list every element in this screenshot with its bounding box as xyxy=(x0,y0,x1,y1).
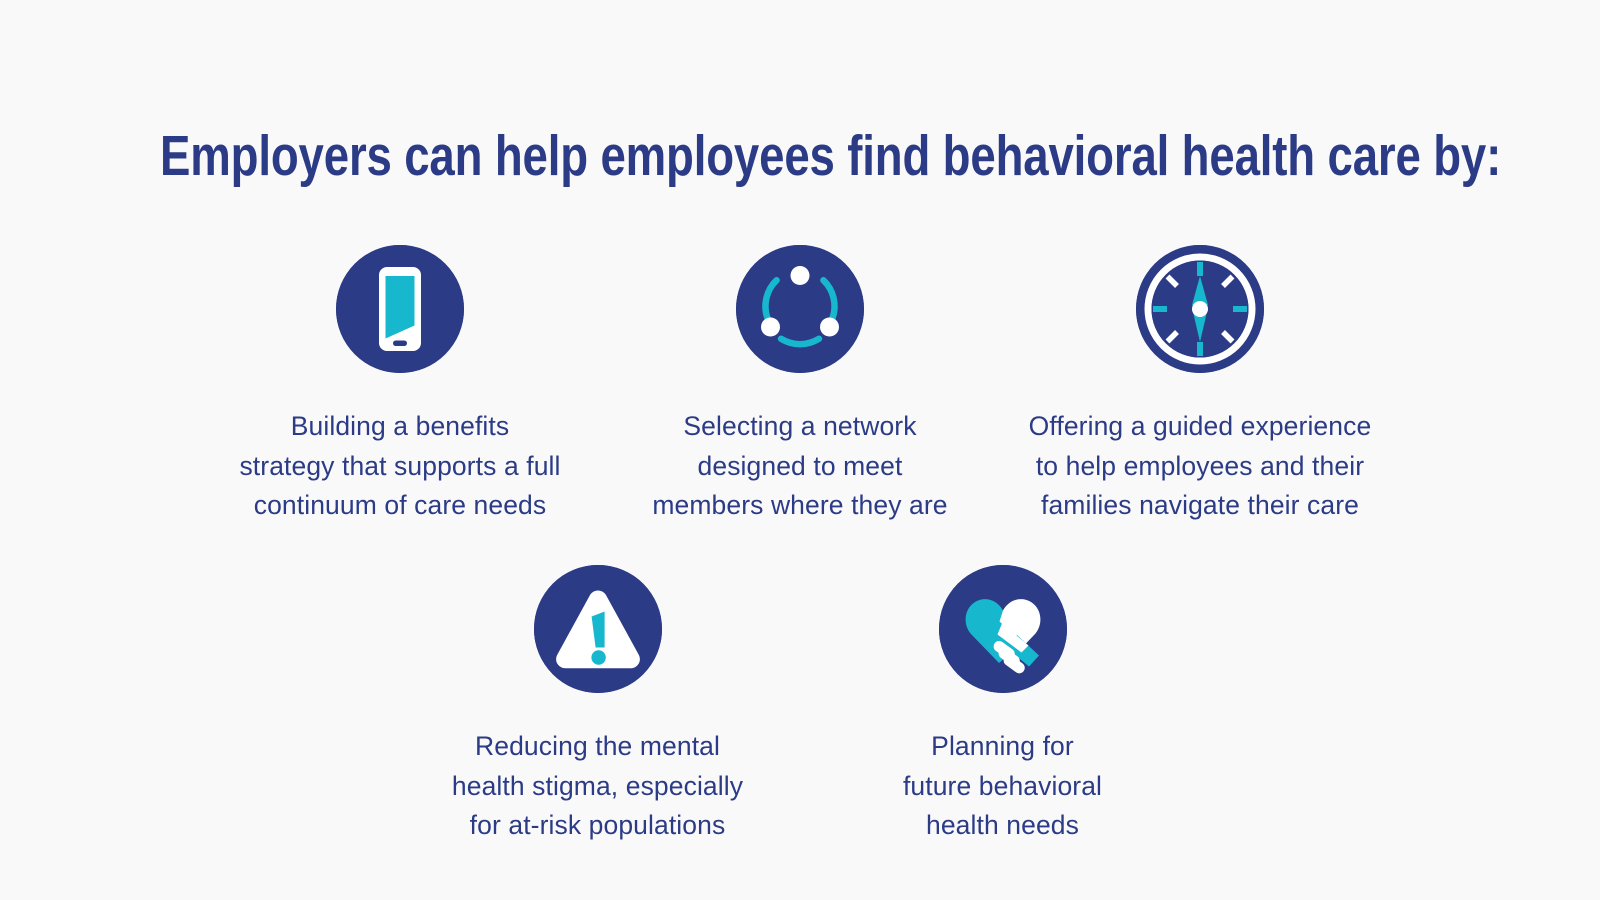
benefit-item-reducing-stigma: Reducing the mental health stigma, espec… xyxy=(395,565,800,846)
smartphone-icon xyxy=(336,245,464,373)
network-nodes-icon xyxy=(736,245,864,373)
benefits-row-top: Building a benefits strategy that suppor… xyxy=(0,245,1600,526)
handshake-heart-icon xyxy=(939,565,1067,693)
benefit-caption: Planning for future behavioral health ne… xyxy=(903,727,1102,846)
benefit-caption: Offering a guided experience to help emp… xyxy=(1029,407,1372,526)
compass-icon xyxy=(1136,245,1264,373)
infographic-canvas: Employers can help employees find behavi… xyxy=(0,0,1600,900)
benefit-item-selecting-network: Selecting a network designed to meet mem… xyxy=(600,245,1000,526)
benefit-item-planning-future-needs: Planning for future behavioral health ne… xyxy=(800,565,1205,846)
warning-triangle-icon xyxy=(534,565,662,693)
benefit-caption: Building a benefits strategy that suppor… xyxy=(239,407,560,526)
benefit-item-building-benefits-strategy: Building a benefits strategy that suppor… xyxy=(200,245,600,526)
benefit-caption: Reducing the mental health stigma, espec… xyxy=(452,727,743,846)
page-title: Employers can help employees find behavi… xyxy=(160,124,1440,188)
benefit-caption: Selecting a network designed to meet mem… xyxy=(652,407,947,526)
benefits-row-bottom: Reducing the mental health stigma, espec… xyxy=(0,565,1600,846)
benefit-item-guided-experience: Offering a guided experience to help emp… xyxy=(1000,245,1400,526)
